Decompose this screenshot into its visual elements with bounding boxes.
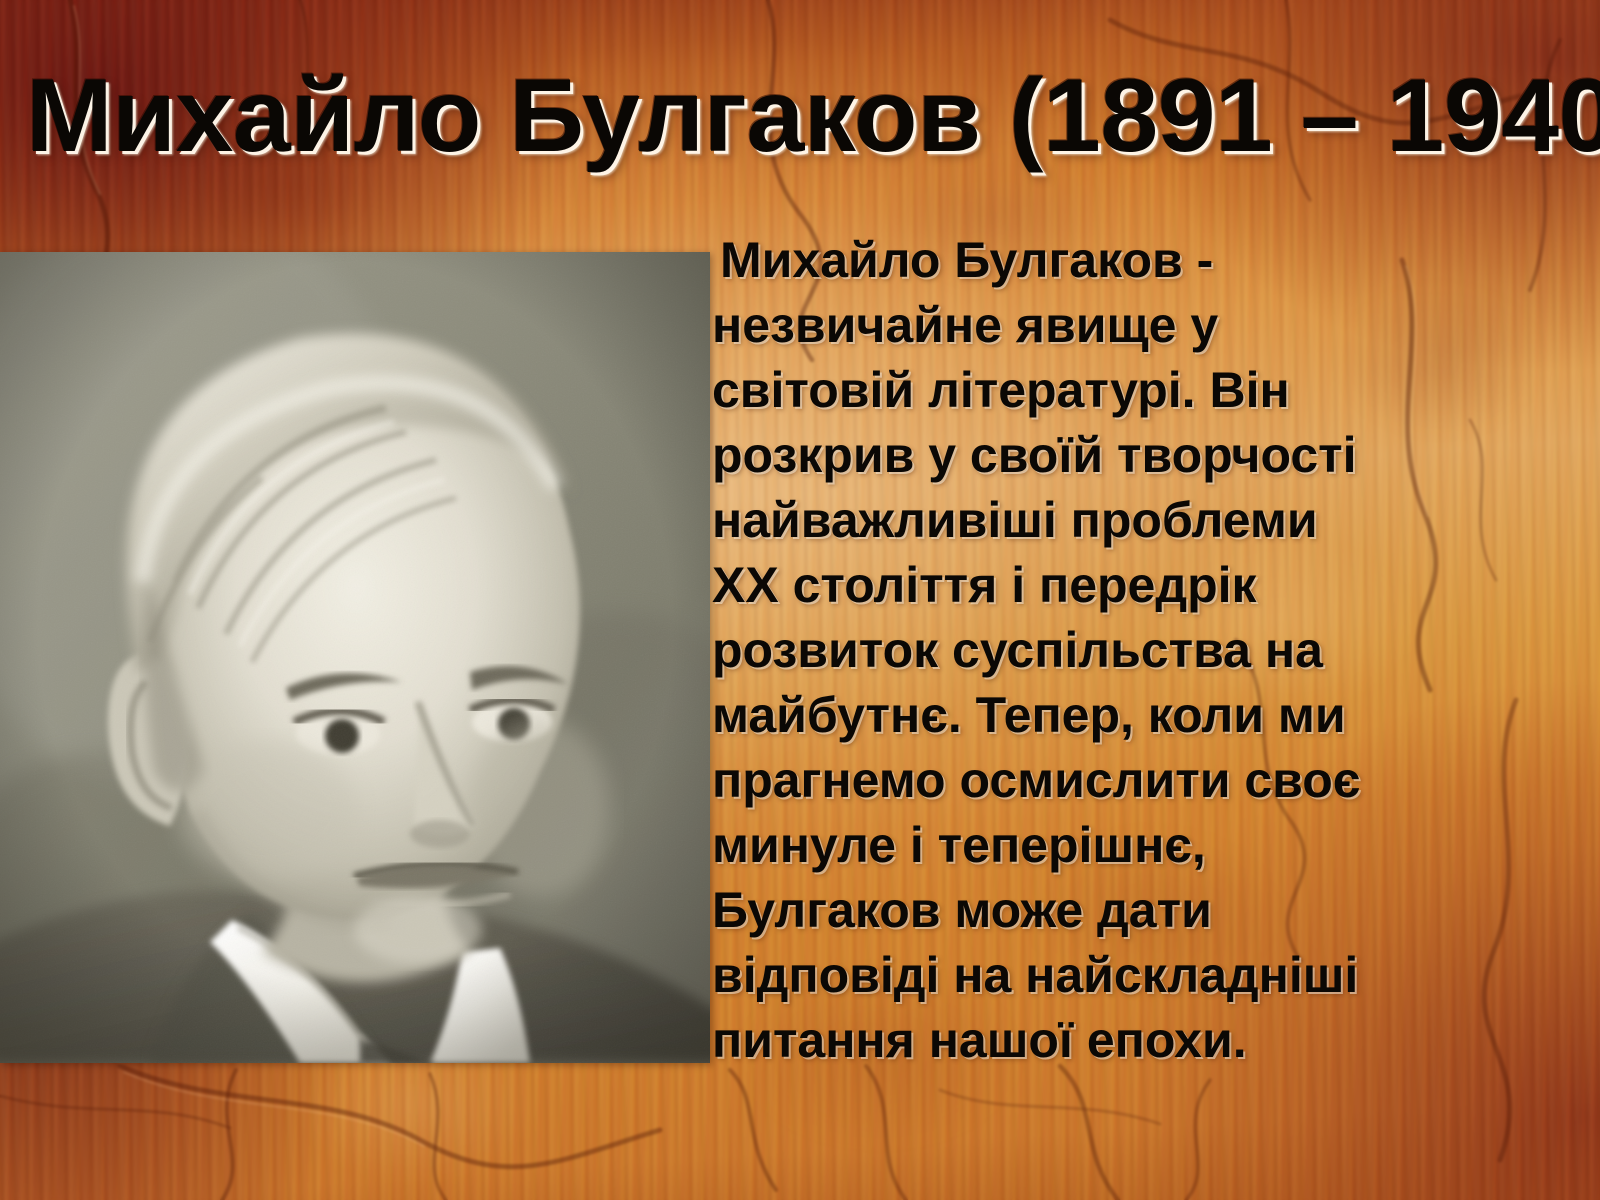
- paragraph-line: XX століття і передрік: [712, 553, 1502, 618]
- paragraph-line: минуле і теперішнє,: [712, 813, 1502, 878]
- body-paragraph: Михайло Булгаков - незвичайне явище у св…: [712, 228, 1502, 1073]
- paragraph-line: розвиток суспільства на: [712, 618, 1502, 683]
- page-title: Михайло Булгаков (1891 – 1940): [26, 62, 1586, 171]
- presentation-slide: Михайло Булгаков (1891 – 1940): [0, 0, 1600, 1200]
- portrait-photo-image: [0, 252, 710, 1063]
- paragraph-line: світовій літературі. Він: [712, 358, 1502, 423]
- paragraph-line: незвичайне явище у: [712, 293, 1502, 358]
- paragraph-line: прагнемо осмислити своє: [712, 748, 1502, 813]
- paragraph-line: найважливіші проблеми: [712, 488, 1502, 553]
- paragraph-line: відповіді на найскладніші: [712, 943, 1502, 1008]
- paragraph-line: Михайло Булгаков -: [712, 228, 1502, 293]
- paragraph-line: розкрив у своїй творчості: [712, 423, 1502, 488]
- paragraph-line: майбутнє. Тепер, коли ми: [712, 683, 1502, 748]
- portrait-photo: [0, 252, 710, 1063]
- paragraph-line: Булгаков може дати: [712, 878, 1502, 943]
- paragraph-line: питання нашої епохи.: [712, 1008, 1502, 1073]
